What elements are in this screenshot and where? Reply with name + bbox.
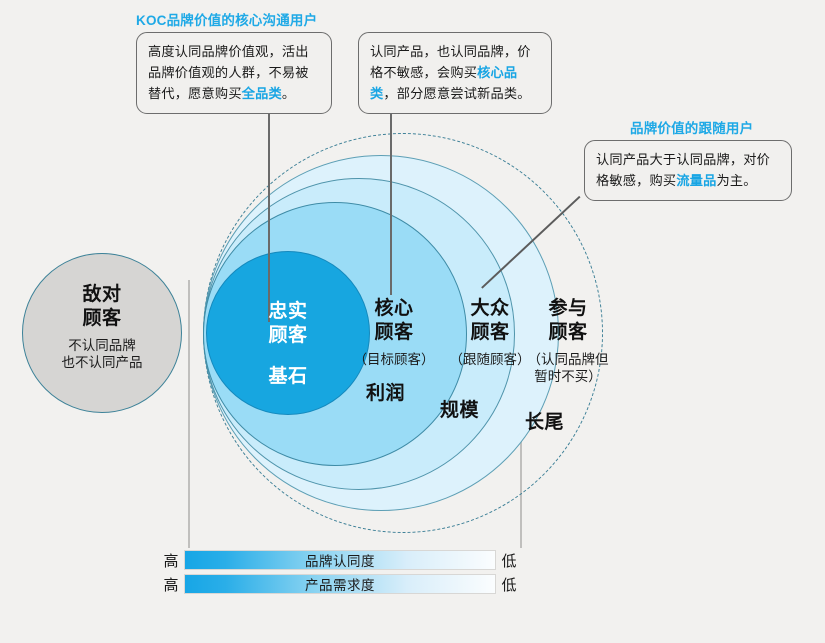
segment-sub-participate-line2: 暂时不买）: [518, 368, 618, 385]
callout-text-koc-part2: 。: [282, 86, 295, 101]
segment-title-core-line2: 顾客: [342, 321, 446, 345]
callout-highlight-koc: 全品类: [242, 86, 282, 101]
callout-text-core-part2: ，部分愿意尝试新品类。: [383, 86, 530, 101]
callout-text-follower-part2: 为主。: [717, 173, 757, 188]
segment-sub-core: （目标顾客）: [342, 351, 446, 368]
segment-keyword-core: 利润: [366, 378, 405, 405]
segment-label-hostile: 敌对 顾客 不认同品牌 也不认同产品: [42, 283, 162, 371]
callout-box-koc[interactable]: 高度认同品牌价值观，活出品牌价值观的人群，不易被替代，愿意购买全品类。: [136, 32, 332, 114]
segment-keyword-loyal: 基石: [228, 365, 348, 389]
callout-box-follower[interactable]: 认同产品大于认同品牌，对价格敏感，购买流量品为主。: [584, 140, 792, 201]
axis-left-label-product: 高: [158, 574, 184, 595]
callout-heading-follower: 品牌价值的跟随用户: [630, 117, 753, 137]
segment-label-participate: 参与 顾客 （认同品牌但 暂时不买）: [518, 297, 618, 385]
bracket-line-left: [188, 280, 190, 548]
axis-right-label-brand: 低: [496, 550, 522, 571]
segment-title-core-line1: 核心: [342, 297, 446, 321]
leader-line-core: [390, 100, 392, 295]
segment-keyword-participate: 长尾: [525, 407, 564, 434]
axis-left-label-brand: 高: [158, 550, 184, 571]
callout-box-core[interactable]: 认同产品，也认同品牌，价格不敏感，会购买核心品类，部分愿意尝试新品类。: [358, 32, 552, 114]
segment-sub-hostile-line1: 不认同品牌: [42, 337, 162, 354]
segment-label-core: 核心 顾客 （目标顾客）: [342, 297, 446, 368]
callout-highlight-follower: 流量品: [676, 173, 716, 188]
axis-right-label-product: 低: [496, 574, 522, 595]
axis-bar-label-product: 产品需求度: [185, 575, 495, 593]
segment-title-loyal-line1: 忠实: [228, 300, 348, 324]
segment-sub-hostile-line2: 也不认同产品: [42, 354, 162, 371]
axis-row-product-demand: 高 产品需求度 低: [158, 573, 522, 595]
segment-keyword-mass: 规模: [440, 395, 479, 422]
segment-title-loyal-line2: 顾客: [228, 324, 348, 348]
axis-gradient-bar-product: 产品需求度: [184, 574, 496, 594]
axis-row-brand-affinity: 高 品牌认同度 低: [158, 549, 522, 571]
segment-label-loyal: 忠实 顾客 基石: [228, 300, 348, 389]
callout-heading-koc: KOC品牌价值的核心沟通用户: [136, 9, 317, 29]
segment-title-participate-line2: 顾客: [518, 321, 618, 345]
segment-sub-participate-line1: （认同品牌但: [518, 351, 618, 368]
segment-title-participate-line1: 参与: [518, 297, 618, 321]
leader-line-koc: [268, 100, 270, 322]
axis-bar-label-brand: 品牌认同度: [185, 551, 495, 569]
diagram-canvas: KOC品牌价值的核心沟通用户 品牌价值的跟随用户 高度认同品牌价值观，活出品牌价…: [0, 0, 825, 643]
axis-gradient-bar-brand: 品牌认同度: [184, 550, 496, 570]
segment-title-hostile-line2: 顾客: [42, 307, 162, 331]
segment-title-hostile-line1: 敌对: [42, 283, 162, 307]
